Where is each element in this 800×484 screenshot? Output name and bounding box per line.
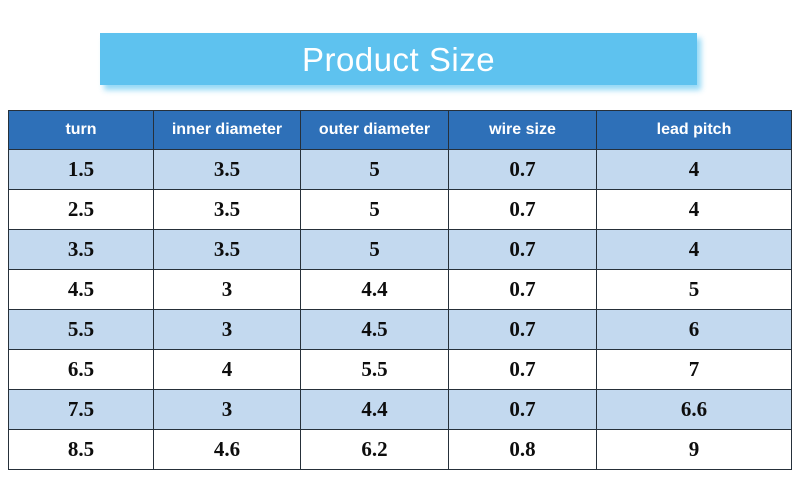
cell-outer-diameter: 4.4 <box>301 270 449 310</box>
cell-lead-pitch: 4 <box>597 150 792 190</box>
cell-lead-pitch: 7 <box>597 350 792 390</box>
table-row: 5.5 3 4.5 0.7 6 <box>9 310 792 350</box>
table-row: 1.5 3.5 5 0.7 4 <box>9 150 792 190</box>
cell-turn: 7.5 <box>9 390 154 430</box>
cell-outer-diameter: 5 <box>301 150 449 190</box>
cell-inner-diameter: 3 <box>154 390 301 430</box>
cell-inner-diameter: 3 <box>154 270 301 310</box>
product-size-table: turn inner diameter outer diameter wire … <box>8 110 792 470</box>
cell-inner-diameter: 4 <box>154 350 301 390</box>
cell-lead-pitch: 6 <box>597 310 792 350</box>
cell-turn: 3.5 <box>9 230 154 270</box>
table-header-row: turn inner diameter outer diameter wire … <box>9 111 792 150</box>
table-row: 4.5 3 4.4 0.7 5 <box>9 270 792 310</box>
cell-wire-size: 0.7 <box>449 270 597 310</box>
cell-outer-diameter: 5 <box>301 230 449 270</box>
column-header-turn: turn <box>9 111 154 150</box>
cell-inner-diameter: 3.5 <box>154 190 301 230</box>
cell-inner-diameter: 4.6 <box>154 430 301 470</box>
cell-turn: 4.5 <box>9 270 154 310</box>
banner-bar: Product Size <box>100 33 697 85</box>
cell-outer-diameter: 4.5 <box>301 310 449 350</box>
cell-wire-size: 0.8 <box>449 430 597 470</box>
page-title: Product Size <box>302 43 495 76</box>
cell-wire-size: 0.7 <box>449 190 597 230</box>
cell-inner-diameter: 3.5 <box>154 150 301 190</box>
table-row: 3.5 3.5 5 0.7 4 <box>9 230 792 270</box>
cell-outer-diameter: 4.4 <box>301 390 449 430</box>
column-header-lead-pitch: lead pitch <box>597 111 792 150</box>
table-row: 7.5 3 4.4 0.7 6.6 <box>9 390 792 430</box>
cell-outer-diameter: 6.2 <box>301 430 449 470</box>
cell-wire-size: 0.7 <box>449 230 597 270</box>
table-row: 2.5 3.5 5 0.7 4 <box>9 190 792 230</box>
cell-lead-pitch: 4 <box>597 230 792 270</box>
column-header-inner-diameter: inner diameter <box>154 111 301 150</box>
cell-lead-pitch: 9 <box>597 430 792 470</box>
cell-turn: 1.5 <box>9 150 154 190</box>
cell-wire-size: 0.7 <box>449 390 597 430</box>
column-header-wire-size: wire size <box>449 111 597 150</box>
cell-turn: 2.5 <box>9 190 154 230</box>
cell-wire-size: 0.7 <box>449 310 597 350</box>
cell-lead-pitch: 6.6 <box>597 390 792 430</box>
cell-turn: 6.5 <box>9 350 154 390</box>
table-row: 8.5 4.6 6.2 0.8 9 <box>9 430 792 470</box>
column-header-outer-diameter: outer diameter <box>301 111 449 150</box>
cell-inner-diameter: 3 <box>154 310 301 350</box>
cell-outer-diameter: 5 <box>301 190 449 230</box>
cell-turn: 5.5 <box>9 310 154 350</box>
cell-outer-diameter: 5.5 <box>301 350 449 390</box>
cell-wire-size: 0.7 <box>449 350 597 390</box>
cell-lead-pitch: 4 <box>597 190 792 230</box>
cell-inner-diameter: 3.5 <box>154 230 301 270</box>
product-size-banner: Product Size <box>100 33 697 85</box>
cell-lead-pitch: 5 <box>597 270 792 310</box>
cell-turn: 8.5 <box>9 430 154 470</box>
cell-wire-size: 0.7 <box>449 150 597 190</box>
table-row: 6.5 4 5.5 0.7 7 <box>9 350 792 390</box>
